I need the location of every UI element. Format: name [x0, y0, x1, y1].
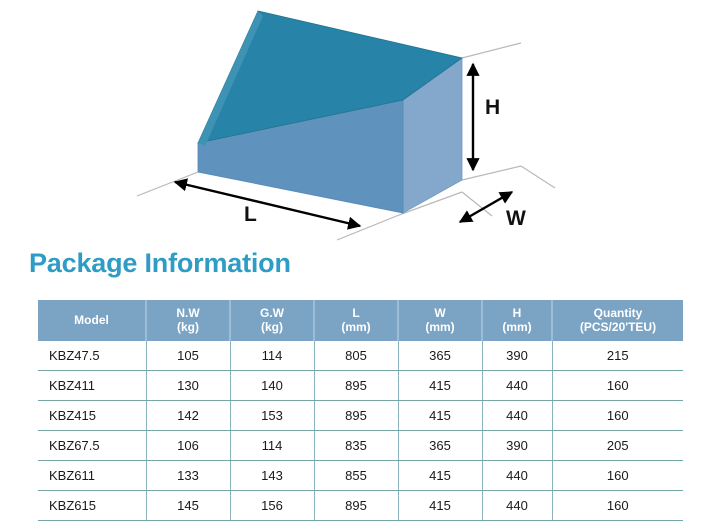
cell-width: 415	[398, 491, 482, 521]
table-row: KBZ615 145 156 895 415 440 160	[38, 491, 683, 521]
cell-net-weight: 106	[146, 431, 230, 461]
page-title: Package Information	[29, 248, 291, 279]
table-row: KBZ611 133 143 855 415 440 160	[38, 461, 683, 491]
cell-width: 415	[398, 461, 482, 491]
cell-quantity: 160	[552, 401, 683, 431]
table-row: KBZ47.5 105 114 805 365 390 215	[38, 341, 683, 371]
column-header-quantity: Quantity (PCS/20'TEU)	[552, 300, 683, 341]
cell-height: 390	[482, 431, 552, 461]
table-row: KBZ415 142 153 895 415 440 160	[38, 401, 683, 431]
width-label: W	[506, 207, 526, 231]
cell-height: 440	[482, 371, 552, 401]
cell-length: 835	[314, 431, 398, 461]
column-header-height-line1: H	[485, 306, 549, 320]
cell-model: KBZ611	[38, 461, 146, 491]
cell-gross-weight: 140	[230, 371, 314, 401]
cell-gross-weight: 153	[230, 401, 314, 431]
cell-quantity: 160	[552, 491, 683, 521]
cell-quantity: 160	[552, 371, 683, 401]
table-row: KBZ411 130 140 895 415 440 160	[38, 371, 683, 401]
cell-height: 440	[482, 461, 552, 491]
cell-width: 365	[398, 431, 482, 461]
cell-height: 440	[482, 491, 552, 521]
cell-gross-weight: 156	[230, 491, 314, 521]
column-header-net-weight-line1: N.W	[149, 306, 227, 320]
cell-quantity: 205	[552, 431, 683, 461]
column-header-model-line1: Model	[40, 313, 143, 327]
height-label: H	[485, 96, 500, 120]
cell-gross-weight: 114	[230, 431, 314, 461]
cell-width: 365	[398, 341, 482, 371]
cell-net-weight: 130	[146, 371, 230, 401]
column-header-quantity-line2: (PCS/20'TEU)	[555, 320, 681, 334]
cell-length: 855	[314, 461, 398, 491]
column-header-width: W (mm)	[398, 300, 482, 341]
column-header-gross-weight-line1: G.W	[233, 306, 311, 320]
cell-model: KBZ415	[38, 401, 146, 431]
cell-width: 415	[398, 371, 482, 401]
cell-length: 805	[314, 341, 398, 371]
cell-width: 415	[398, 401, 482, 431]
cell-height: 440	[482, 401, 552, 431]
cell-model: KBZ615	[38, 491, 146, 521]
column-header-height: H (mm)	[482, 300, 552, 341]
box-3d-illustration	[0, 0, 702, 242]
package-information-table: Model N.W (kg) G.W (kg) L (mm) W (mm) H …	[38, 300, 683, 521]
column-header-net-weight: N.W (kg)	[146, 300, 230, 341]
cell-quantity: 160	[552, 461, 683, 491]
cell-model: KBZ47.5	[38, 341, 146, 371]
column-header-width-line1: W	[401, 306, 479, 320]
cell-net-weight: 133	[146, 461, 230, 491]
cell-model: KBZ411	[38, 371, 146, 401]
column-header-quantity-line1: Quantity	[555, 306, 681, 320]
column-header-height-line2: (mm)	[485, 320, 549, 334]
cell-length: 895	[314, 371, 398, 401]
cell-model: KBZ67.5	[38, 431, 146, 461]
cell-gross-weight: 114	[230, 341, 314, 371]
table-row: KBZ67.5 106 114 835 365 390 205	[38, 431, 683, 461]
table-header-row: Model N.W (kg) G.W (kg) L (mm) W (mm) H …	[38, 300, 683, 341]
length-label: L	[244, 203, 257, 227]
cell-net-weight: 145	[146, 491, 230, 521]
cell-height: 390	[482, 341, 552, 371]
cell-quantity: 215	[552, 341, 683, 371]
column-header-net-weight-line2: (kg)	[149, 320, 227, 334]
column-header-length-line2: (mm)	[317, 320, 395, 334]
cell-net-weight: 142	[146, 401, 230, 431]
column-header-length-line1: L	[317, 306, 395, 320]
cell-net-weight: 105	[146, 341, 230, 371]
column-header-length: L (mm)	[314, 300, 398, 341]
column-header-model: Model	[38, 300, 146, 341]
column-header-gross-weight-line2: (kg)	[233, 320, 311, 334]
cell-length: 895	[314, 491, 398, 521]
column-header-width-line2: (mm)	[401, 320, 479, 334]
cell-length: 895	[314, 401, 398, 431]
cell-gross-weight: 143	[230, 461, 314, 491]
column-header-gross-weight: G.W (kg)	[230, 300, 314, 341]
package-diagram: L H W	[0, 0, 702, 242]
